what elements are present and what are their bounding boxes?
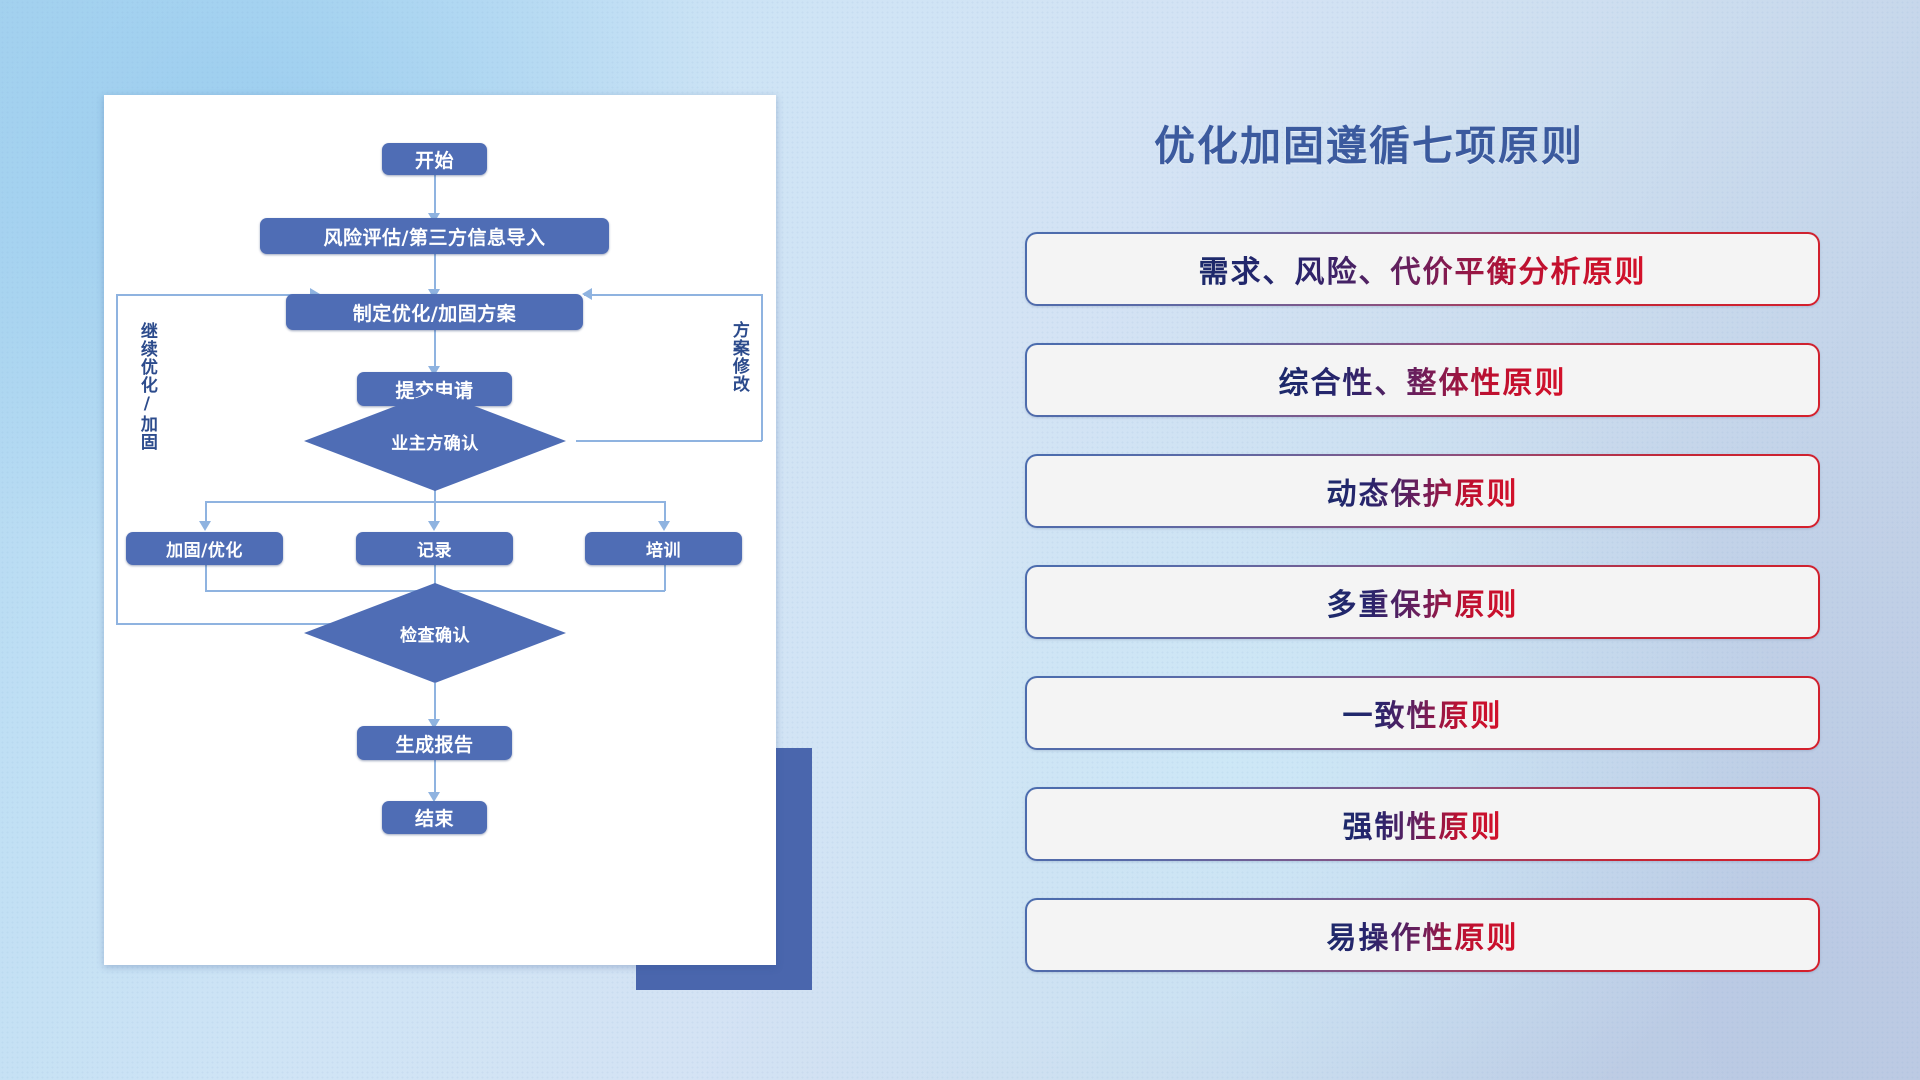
principle-card[interactable]: 易操作性原则 xyxy=(1025,898,1820,972)
arrowhead-branch-right xyxy=(658,521,670,531)
flow-node-generate-report[interactable]: 生成报告 xyxy=(357,726,512,760)
principle-card-label: 易操作性原则 xyxy=(1327,913,1519,957)
connector-right-loop-top xyxy=(584,294,762,296)
connector-start-to-risk xyxy=(434,174,436,216)
flow-node-make-plan[interactable]: 制定优化/加固方案 xyxy=(286,294,583,330)
flow-node-owner-confirm[interactable]: 业主方确认 xyxy=(304,391,566,491)
connector-left-loop-vertical xyxy=(116,294,118,624)
principle-card-label: 需求、风险、代价平衡分析原则 xyxy=(1199,247,1647,291)
connector-merge-right xyxy=(664,564,666,591)
flow-node-generate-report-label: 生成报告 xyxy=(395,730,473,757)
edge-label-continue-optimize: 继续优化/加固 xyxy=(137,322,155,451)
principle-card-inner: 需求、风险、代价平衡分析原则 xyxy=(1027,234,1817,303)
principles-panel-title: 优化加固遵循七项原则 xyxy=(1154,112,1584,172)
flow-node-training-label: 培训 xyxy=(646,536,681,561)
connector-right-loop-bottom xyxy=(576,440,762,442)
edge-label-plan-revise: 方案修改 xyxy=(729,321,747,393)
principle-card-label: 强制性原则 xyxy=(1343,802,1503,846)
arrowhead-branch-left xyxy=(199,521,211,531)
principle-card-inner: 一致性原则 xyxy=(1027,678,1817,747)
principle-card-inner: 动态保护原则 xyxy=(1027,456,1817,525)
flow-node-end-label: 结束 xyxy=(415,804,454,831)
flow-node-check-confirm[interactable]: 检查确认 xyxy=(304,583,566,683)
flow-node-risk-assessment[interactable]: 风险评估/第三方信息导入 xyxy=(260,218,609,254)
slide-root: 开始 风险评估/第三方信息导入 制定优化/加固方案 提交申请 业主方确认 加固/… xyxy=(0,0,1920,1080)
flow-node-record-label: 记录 xyxy=(417,536,452,561)
connector-report-to-end xyxy=(434,760,436,796)
principle-card[interactable]: 一致性原则 xyxy=(1025,676,1820,750)
connector-right-loop-vertical xyxy=(761,294,763,441)
arrowhead-branch-mid xyxy=(428,521,440,531)
principle-card-inner: 易操作性原则 xyxy=(1027,900,1817,969)
principle-card-label: 动态保护原则 xyxy=(1327,469,1519,513)
connector-left-loop-bottom xyxy=(116,623,334,625)
principle-card[interactable]: 动态保护原则 xyxy=(1025,454,1820,528)
principles-card-list: 需求、风险、代价平衡分析原则 综合性、整体性原则 动态保护原则 多重保护原则 一… xyxy=(1025,232,1820,1009)
principle-card[interactable]: 综合性、整体性原则 xyxy=(1025,343,1820,417)
principle-card[interactable]: 多重保护原则 xyxy=(1025,565,1820,639)
flow-node-start-label: 开始 xyxy=(415,146,454,173)
principle-card-inner: 综合性、整体性原则 xyxy=(1027,345,1817,414)
flow-node-risk-assessment-label: 风险评估/第三方信息导入 xyxy=(324,223,546,250)
flowchart-card: 开始 风险评估/第三方信息导入 制定优化/加固方案 提交申请 业主方确认 加固/… xyxy=(104,95,776,965)
principle-card-label: 综合性、整体性原则 xyxy=(1279,358,1567,402)
flow-node-make-plan-label: 制定优化/加固方案 xyxy=(353,299,516,326)
principle-card-label: 一致性原则 xyxy=(1343,691,1503,735)
flow-node-start[interactable]: 开始 xyxy=(382,143,487,175)
principle-card[interactable]: 强制性原则 xyxy=(1025,787,1820,861)
connector-check-to-report xyxy=(434,683,436,723)
principle-card-label: 多重保护原则 xyxy=(1327,580,1519,624)
principle-card-inner: 强制性原则 xyxy=(1027,789,1817,858)
principle-card[interactable]: 需求、风险、代价平衡分析原则 xyxy=(1025,232,1820,306)
flowchart-canvas: 开始 风险评估/第三方信息导入 制定优化/加固方案 提交申请 业主方确认 加固/… xyxy=(104,95,776,965)
principle-card-inner: 多重保护原则 xyxy=(1027,567,1817,636)
flow-node-training[interactable]: 培训 xyxy=(585,532,742,565)
connector-merge-left xyxy=(205,564,207,591)
connector-risk-to-plan xyxy=(434,253,436,293)
flow-node-record[interactable]: 记录 xyxy=(356,532,513,565)
flow-node-check-confirm-label: 检查确认 xyxy=(400,621,470,646)
arrowhead-right-loop xyxy=(582,288,592,300)
flow-node-reinforce-label: 加固/优化 xyxy=(166,536,243,561)
connector-plan-to-submit xyxy=(434,330,436,370)
flow-node-owner-confirm-label: 业主方确认 xyxy=(391,429,479,454)
flow-node-reinforce[interactable]: 加固/优化 xyxy=(126,532,283,565)
flow-node-end[interactable]: 结束 xyxy=(382,801,487,834)
